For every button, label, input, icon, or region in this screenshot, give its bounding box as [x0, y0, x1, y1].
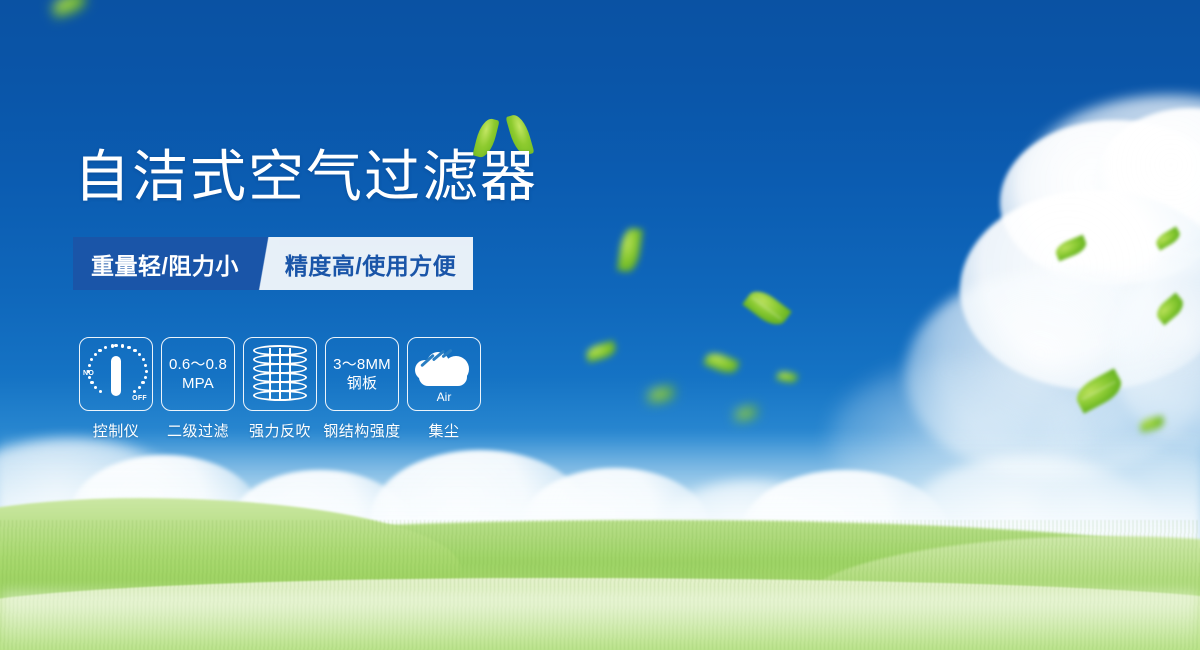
pressure-range: 0.6～0.8 [169, 355, 227, 374]
filter-stack-icon [253, 345, 307, 403]
gauge-icon: NO OFF [84, 343, 148, 405]
subtitle-divider [253, 237, 279, 290]
feature-list: NO OFF 控制仪 0.6～0.8 MPA 二级过滤 [78, 337, 482, 441]
feature-item-pressure[interactable]: 0.6～0.8 MPA 二级过滤 [160, 337, 236, 441]
feature-item-dust[interactable]: Air 集尘 [406, 337, 482, 441]
feature-label: 控制仪 [93, 420, 140, 441]
feature-item-steel[interactable]: 3～8MM 钢板 钢结构强度 [324, 337, 400, 441]
pressure-text-icon: 0.6～0.8 MPA [169, 355, 227, 393]
feature-label: 二级过滤 [167, 420, 229, 441]
feature-item-controller[interactable]: NO OFF 控制仪 [78, 337, 154, 441]
subtitle-left-text: 重量轻/阻力小 [73, 237, 253, 290]
leaf-icon [734, 406, 758, 421]
leaf-icon [647, 386, 675, 402]
subtitle-right-text: 精度高/使用方便 [279, 237, 473, 290]
leaf-icon [742, 285, 792, 331]
gauge-label-on: NO [83, 370, 94, 377]
feature-item-blowback[interactable]: 强力反吹 [242, 337, 318, 441]
steel-material: 钢板 [333, 374, 391, 393]
feature-label: 集尘 [428, 420, 459, 441]
hero-banner: 自洁式空气过滤器 重量轻/阻力小 精度高/使用方便 [0, 0, 1200, 650]
steel-plate-text-icon: 3～8MM 钢板 [333, 355, 391, 393]
horizon-haze [0, 430, 1200, 560]
leaf-icon [703, 349, 740, 376]
feature-icon-box: 3～8MM 钢板 [325, 337, 399, 411]
steel-thickness: 3～8MM [333, 355, 391, 374]
leaf-icon [617, 227, 643, 273]
leaf-icon [585, 340, 618, 362]
feature-icon-box: NO OFF [79, 337, 153, 411]
feature-label: 钢结构强度 [323, 420, 401, 441]
air-label: Air [413, 390, 475, 404]
gauge-needle [111, 356, 121, 396]
feature-icon-box: 0.6～0.8 MPA [161, 337, 235, 411]
feature-icon-box [243, 337, 317, 411]
feature-label: 强力反吹 [249, 420, 311, 441]
page-title: 自洁式空气过滤器 [74, 144, 538, 210]
feature-icon-box: Air [407, 337, 481, 411]
subtitle-banner: 重量轻/阻力小 精度高/使用方便 [73, 237, 473, 290]
gauge-label-off: OFF [132, 395, 147, 402]
leaf-icon [50, 0, 88, 18]
pressure-unit: MPA [169, 374, 227, 393]
air-cloud-icon: Air [413, 346, 475, 402]
leaf-icon [776, 370, 798, 385]
